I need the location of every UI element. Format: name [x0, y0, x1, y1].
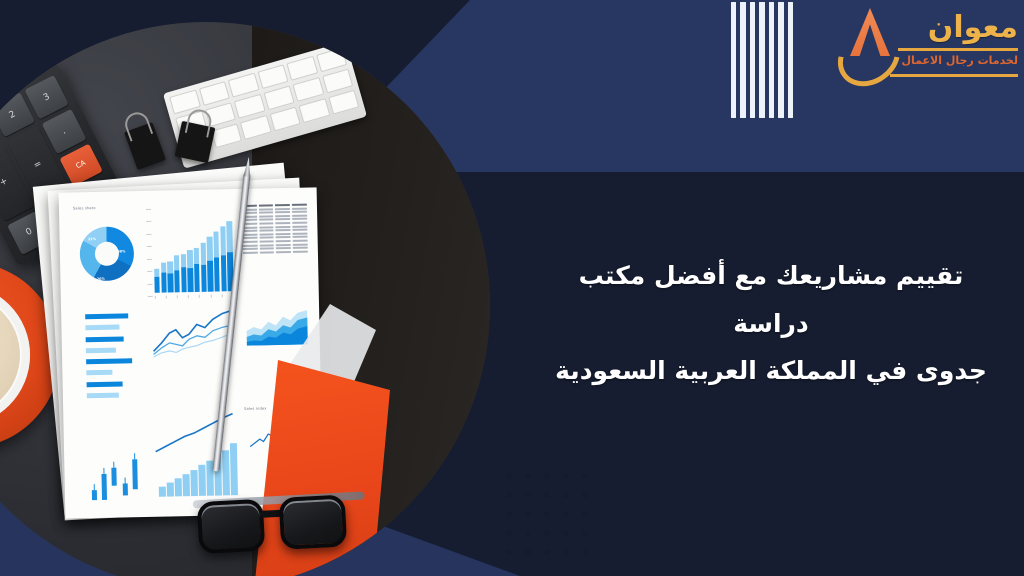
decorative-dot-grid [506, 473, 588, 555]
glasses-lens-right [279, 494, 348, 549]
brand-name: معوان [928, 10, 1018, 45]
eyeglasses [196, 490, 359, 560]
dot [544, 511, 550, 517]
dot [506, 492, 512, 498]
dot [506, 511, 512, 517]
donut-label: 21% [88, 237, 96, 241]
candle-series [87, 415, 141, 500]
dot [525, 549, 531, 555]
dot [506, 549, 512, 555]
candlestick-chart [77, 409, 145, 506]
brand-tagline: لخدمات رجال الاعمال [901, 54, 1018, 67]
dot [525, 492, 531, 498]
promo-banner: 1 2 3 + = . CA 0 00 [0, 0, 1024, 576]
combo-bar-line-chart [149, 407, 240, 505]
dot [563, 530, 569, 536]
decorative-stripes [731, 2, 793, 118]
dot [506, 473, 512, 479]
dot [582, 549, 588, 555]
dot [582, 530, 588, 536]
column-series [153, 211, 234, 293]
dot [506, 530, 512, 536]
horizontal-bar-chart [75, 307, 143, 404]
hero-photo: 1 2 3 + = . CA 0 00 [0, 22, 490, 576]
logo-divider [890, 74, 1018, 77]
dot [563, 492, 569, 498]
glasses-lens-left [197, 499, 266, 554]
dot [563, 511, 569, 517]
data-table [240, 202, 311, 299]
dot [582, 473, 588, 479]
stripe [740, 2, 745, 118]
dot [525, 530, 531, 536]
line-series [151, 309, 233, 359]
stacked-column-chart [145, 203, 236, 301]
headline-line-1: تقييم مشاريعك مع أفضل مكتب دراسة [546, 252, 996, 347]
dot [563, 549, 569, 555]
stripe [731, 2, 736, 118]
donut-label: 38% [117, 250, 125, 254]
stripe [750, 2, 755, 118]
logo-swoosh-icon [826, 16, 911, 98]
stripe [778, 2, 783, 118]
dot [582, 511, 588, 517]
stripe [769, 2, 774, 118]
dot [544, 473, 550, 479]
donut-label: 26% [97, 277, 105, 281]
brand-logo[interactable]: معوان لخدمات رجال الاعمال [836, 6, 1018, 98]
donut-chart: Sales share 21% 38% 26% [73, 205, 141, 302]
x-axis [155, 294, 234, 300]
logo-divider [898, 48, 1018, 51]
dot [544, 549, 550, 555]
dot [544, 530, 550, 536]
dot [525, 511, 531, 517]
stripe [759, 2, 764, 118]
headline: تقييم مشاريعك مع أفضل مكتب دراسة جدوى في… [546, 252, 996, 395]
bar-series [85, 313, 139, 398]
area-series [246, 308, 308, 346]
donut-chart-ring [79, 226, 134, 281]
headline-line-2: جدوى في المملكة العربية السعودية [546, 347, 996, 395]
dot [525, 473, 531, 479]
dot [582, 492, 588, 498]
dot [563, 473, 569, 479]
stripe [788, 2, 793, 118]
dot [544, 492, 550, 498]
